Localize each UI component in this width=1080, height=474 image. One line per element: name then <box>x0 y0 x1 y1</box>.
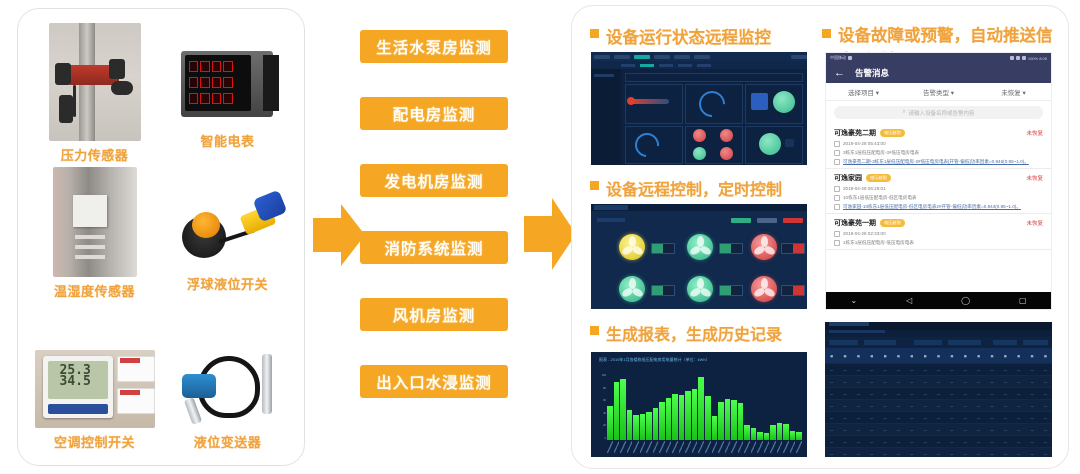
device-toggle-3[interactable] <box>781 243 805 254</box>
chart-y-tick: 100 <box>602 374 606 377</box>
dashboard-sidebar <box>591 69 621 165</box>
table-row[interactable]: ————————————————— <box>825 412 1052 424</box>
alarm-time: 2019-04-28 05:43:00 <box>843 141 886 147</box>
table-cell: — <box>1039 380 1052 384</box>
table-row[interactable]: ————————————————— <box>825 364 1052 376</box>
table-cell: — <box>865 452 878 456</box>
table-cell: — <box>905 428 918 432</box>
nav-item <box>594 55 610 59</box>
alarm-list-item[interactable]: 可逸豪苑二期 电压越限 未恢复 2019-04-28 05:43:00 3栋东1… <box>826 124 1051 169</box>
remote-control-dashboard-screenshot <box>591 204 807 309</box>
level-transmitter-photo <box>168 348 288 428</box>
phone-filter-bar: 选择项目 ▾ 告警类型 ▾ 未恢复 ▾ <box>826 83 1051 101</box>
table-cell: — <box>838 380 851 384</box>
chart-bar <box>607 406 613 440</box>
chart-bar <box>783 424 789 440</box>
dashboard-subnav <box>591 61 807 69</box>
table-topbar <box>825 322 1052 330</box>
phone-search-input[interactable]: ⌕ 请输入设备名称或告警内容 <box>834 106 1043 119</box>
table-cell: — <box>838 392 851 396</box>
arrow-right-icon <box>313 204 365 271</box>
table-cell: — <box>1012 416 1025 420</box>
sensor-panel: 压力传感器 智能电表 <box>17 8 305 466</box>
table-cell: — <box>905 416 918 420</box>
table-cell: — <box>932 392 945 396</box>
chart-bar <box>640 414 646 440</box>
legend-fault <box>783 218 803 223</box>
table-cell: — <box>932 440 945 444</box>
sensor-item-level-transmitter: 液位变送器 <box>161 311 294 455</box>
table-header-cell: ▦ <box>1012 354 1025 358</box>
carrier-label: 中国移动 <box>830 55 846 61</box>
sensor-label: 浮球液位开关 <box>187 274 268 293</box>
table-header-cell: ▦ <box>945 354 958 358</box>
filter-select[interactable] <box>864 340 896 345</box>
device-fan-1[interactable] <box>619 234 645 260</box>
chart-x-tick <box>679 441 685 453</box>
table-header-cell: ▦ <box>905 354 918 358</box>
device-toggle-4[interactable] <box>651 285 675 296</box>
chart-x-tick <box>712 441 718 453</box>
table-cell: — <box>878 404 891 408</box>
chart-x-tick <box>692 441 698 453</box>
table-header-cell: ▦ <box>892 354 905 358</box>
chart-y-tick: 60 <box>603 399 606 402</box>
alarm-type-badge: 电压越限 <box>866 174 891 182</box>
chart-bar <box>731 400 737 440</box>
device-fan-5[interactable] <box>687 276 713 302</box>
alarm-clock-icon <box>1022 56 1026 60</box>
table-cell: — <box>1025 416 1038 420</box>
alarm-type-badge: 电压越限 <box>880 129 905 137</box>
feature-heading-text: 生成报表，生成历史记录 <box>606 321 782 345</box>
chart-x-tick <box>718 441 724 453</box>
table-cell: — <box>919 428 932 432</box>
table-cell: — <box>959 440 972 444</box>
table-cell: — <box>985 392 998 396</box>
alarm-type-badge: 电压越限 <box>880 219 905 227</box>
table-header-cell: ▦ <box>959 354 972 358</box>
history-table-screenshot: ▦▦▦▦▦▦▦▦▦▦▦▦▦▦▦▦▦———————————————————————… <box>825 322 1052 457</box>
table-cell: — <box>825 368 838 372</box>
bullet-icon <box>590 29 599 38</box>
filter-alarm-type[interactable]: 告警类型 ▾ <box>901 87 976 97</box>
chart-x-tick <box>666 441 672 453</box>
table-cell: — <box>838 368 851 372</box>
device-toggle-1[interactable] <box>651 243 675 254</box>
table-cell: — <box>1039 452 1052 456</box>
scenario-button-1[interactable]: 生活水泵房监测 <box>360 30 508 63</box>
device-icon <box>834 195 840 201</box>
table-cell: — <box>972 404 985 408</box>
table-cell: — <box>999 404 1012 408</box>
sensor-item-pressure: 压力传感器 <box>28 23 161 167</box>
back-triangle-icon[interactable]: ◁ <box>906 296 912 305</box>
table-cell: — <box>1025 452 1038 456</box>
table-row[interactable]: ————————————————— <box>825 400 1052 412</box>
table-cell: — <box>959 380 972 384</box>
monitoring-dashboard-screenshot <box>591 52 807 165</box>
table-cell: — <box>838 440 851 444</box>
table-cell: — <box>985 404 998 408</box>
monitoring-scenarios-list: 生活水泵房监测 配电房监测 发电机房监测 消防系统监测 风机房监测 出入口水浸监… <box>360 30 520 450</box>
alarm-device: 3栋东1层低压配电房-3#低压电房电表 <box>843 150 919 156</box>
table-cell: — <box>878 368 891 372</box>
chart-x-tick <box>698 441 704 453</box>
sensor-item-meter: 智能电表 <box>161 23 294 167</box>
table-cell: — <box>945 428 958 432</box>
table-cell: — <box>865 368 878 372</box>
table-cell: — <box>959 368 972 372</box>
phone-page-title: 告警消息 <box>855 67 889 79</box>
chart-bar <box>620 379 626 440</box>
table-cell: — <box>905 380 918 384</box>
table-cell: — <box>825 380 838 384</box>
table-breadcrumb <box>825 330 1052 337</box>
scenario-button-2[interactable]: 配电房监测 <box>360 97 508 130</box>
table-cell: — <box>959 452 972 456</box>
nav-item-active <box>634 55 650 59</box>
table-header-cell: ▦ <box>825 354 838 358</box>
search-placeholder: 请输入设备名称或告警内容 <box>909 109 975 117</box>
dashboard-topnav <box>591 52 807 61</box>
device-toggle-6[interactable] <box>781 285 805 296</box>
table-cell: — <box>999 392 1012 396</box>
chart-bar <box>751 428 757 440</box>
table-cell: — <box>865 380 878 384</box>
scenario-button-3[interactable]: 发电机房监测 <box>360 164 508 197</box>
table-cell: — <box>838 416 851 420</box>
table-cell: — <box>1025 428 1038 432</box>
dashboard-content <box>621 69 807 165</box>
device-toggle-2[interactable] <box>719 243 743 254</box>
filter-project[interactable]: 选择项目 ▾ <box>826 87 901 97</box>
table-cell: — <box>1025 380 1038 384</box>
table-cell: — <box>999 416 1012 420</box>
chart-bar <box>790 431 796 440</box>
table-header-cell: ▦ <box>932 354 945 358</box>
clock-icon <box>834 186 840 192</box>
subnav-item-active <box>640 64 654 67</box>
table-cell: — <box>905 392 918 396</box>
query-button[interactable] <box>993 340 1018 345</box>
table-header-cell: ▦ <box>919 354 932 358</box>
table-cell: — <box>972 380 985 384</box>
table-cell: — <box>945 368 958 372</box>
table-cell: — <box>932 368 945 372</box>
table-cell: — <box>878 452 891 456</box>
pressure-sensor-photo <box>49 23 141 141</box>
bluetooth-icon <box>1016 56 1020 60</box>
sensor-label: 空调控制开关 <box>54 432 135 451</box>
filter-select-2[interactable] <box>948 340 980 345</box>
phone-nav-bar: ⌄ ◁ ◯ ▢ <box>826 292 1051 309</box>
table-cell: — <box>878 440 891 444</box>
table-header-cell: ▦ <box>972 354 985 358</box>
device-fan-6[interactable] <box>751 276 777 302</box>
alarm-detail: 可逸家园-10栋东1层低压配电房-低区电房电表2#开管-偏低]功率因素=0.94… <box>843 204 1021 210</box>
report-bar-chart-screenshot: 报表 - 2019年1月各楼栋低压配电房用电量统计（单位：kWh） 100806… <box>591 352 807 457</box>
feature-heading-monitor: 设备运行状态远程监控 <box>590 24 771 48</box>
table-cell: — <box>878 428 891 432</box>
table-cell: — <box>1025 440 1038 444</box>
nav-item <box>674 55 690 59</box>
table-cell: — <box>972 440 985 444</box>
alarm-list-item[interactable]: 可逸豪苑一期 电压越限 未恢复 2019-04-28 02:33:00 1栋东1… <box>826 214 1051 250</box>
table-cell: — <box>865 440 878 444</box>
device-icon <box>834 150 840 156</box>
chart-bar <box>712 416 718 440</box>
table-cell: — <box>919 392 932 396</box>
chart-bar <box>770 425 776 440</box>
table-cell: — <box>905 452 918 456</box>
alarm-status: 未恢复 <box>1026 129 1043 137</box>
table-cell: — <box>892 440 905 444</box>
chart-y-tick: 80 <box>603 387 606 390</box>
chart-x-tick <box>764 441 770 453</box>
mobile-app-screenshot: 中国移动 100% 8:05 ← 告警消息 选择项目 ▾ 告警类型 ▾ 未恢复 … <box>825 52 1052 310</box>
back-arrow-icon[interactable]: ← <box>834 68 845 79</box>
temp-humidity-sensor-photo <box>53 167 137 277</box>
table-cell: — <box>985 380 998 384</box>
chart-x-tick <box>633 441 639 453</box>
hide-keyboard-icon[interactable]: ⌄ <box>850 296 857 305</box>
nav-item <box>694 55 710 59</box>
chart-title: 报表 - 2019年1月各楼栋低压配电房用电量统计（单位：kWh） <box>599 357 710 363</box>
chart-x-tick <box>705 441 711 453</box>
table-cell: — <box>999 440 1012 444</box>
bullet-icon <box>822 29 831 38</box>
table-cell: — <box>825 392 838 396</box>
table-cell: — <box>985 368 998 372</box>
chart-x-tick <box>672 441 678 453</box>
scenario-button-6[interactable]: 出入口水浸监测 <box>360 365 508 398</box>
alarm-time: 2019-04-28 02:33:00 <box>843 231 886 237</box>
table-cell: — <box>1039 404 1052 408</box>
table-cell: — <box>959 404 972 408</box>
sensor-label: 压力传感器 <box>61 145 129 164</box>
table-cell: — <box>945 380 958 384</box>
chart-bar <box>692 389 698 440</box>
chart-x-tick <box>659 441 665 453</box>
table-cell: — <box>878 380 891 384</box>
nav-user <box>791 55 807 59</box>
infographic-root: 压力传感器 智能电表 <box>0 0 1080 474</box>
table-cell: — <box>852 380 865 384</box>
alarm-time: 2019-04-28 05:29:01 <box>843 186 886 192</box>
table-cell: — <box>892 452 905 456</box>
table-cell: — <box>865 428 878 432</box>
chart-bar <box>725 399 731 440</box>
table-cell: — <box>825 452 838 456</box>
table-cell: — <box>852 404 865 408</box>
chart-bar <box>738 403 744 440</box>
export-button[interactable] <box>1023 340 1048 345</box>
clock-icon <box>834 231 840 237</box>
scenario-button-5[interactable]: 风机房监测 <box>360 298 508 331</box>
table-cell: — <box>905 440 918 444</box>
scenario-button-4[interactable]: 消防系统监测 <box>360 231 508 264</box>
table-cell: — <box>932 380 945 384</box>
table-cell: — <box>972 392 985 396</box>
table-cell: — <box>985 452 998 456</box>
table-cell: — <box>945 452 958 456</box>
chart-x-tick <box>640 441 646 453</box>
chart-bar <box>633 415 639 440</box>
device-toggle-5[interactable] <box>719 285 743 296</box>
table-cell: — <box>999 368 1012 372</box>
table-cell: — <box>919 404 932 408</box>
table-cell: — <box>985 440 998 444</box>
phone-status-bar: 中国移动 100% 8:05 <box>826 53 1051 63</box>
table-header-cell: ▦ <box>865 354 878 358</box>
table-cell: — <box>972 368 985 372</box>
chart-bar <box>653 408 659 440</box>
table-cell: — <box>892 428 905 432</box>
alarm-detail: 可逸豪苑二期-3栋东1层低压配电房-2#低压电房电表[开管-偏低]功率因素=0.… <box>843 159 1029 165</box>
alarm-project: 可逸豪苑二期 <box>834 128 876 138</box>
table-cell: — <box>825 416 838 420</box>
chart-x-tick <box>620 441 626 453</box>
table-row[interactable]: ————————————————— <box>825 376 1052 388</box>
chart-bar <box>614 382 620 440</box>
clock-icon <box>834 141 840 147</box>
table-cell: — <box>1039 392 1052 396</box>
table-cell: — <box>905 368 918 372</box>
table-row[interactable]: ————————————————— <box>825 388 1052 400</box>
table-cell: — <box>825 440 838 444</box>
chart-bar <box>796 432 802 440</box>
table-header-cell: ▦ <box>1039 354 1052 358</box>
arrow-right-icon <box>524 198 576 275</box>
table-header-cell: ▦ <box>1025 354 1038 358</box>
alarm-project: 可逸豪苑一期 <box>834 218 876 228</box>
table-filter-bar <box>825 337 1052 348</box>
table-cell: — <box>1039 428 1052 432</box>
alarm-list-item[interactable]: 可逸家园 电压越限 未恢复 2019-04-28 05:29:01 10栋东1层… <box>826 169 1051 214</box>
chart-x-tick <box>731 441 737 453</box>
table-body: ▦▦▦▦▦▦▦▦▦▦▦▦▦▦▦▦▦———————————————————————… <box>825 348 1052 457</box>
chart-x-tick <box>790 441 796 453</box>
filter-status[interactable]: 未恢复 ▾ <box>976 87 1051 97</box>
nav-item <box>654 55 670 59</box>
table-cell: — <box>825 404 838 408</box>
sensor-label: 智能电表 <box>200 131 254 150</box>
chart-x-tick <box>744 441 750 453</box>
legend-running <box>731 218 751 223</box>
table-cell: — <box>945 416 958 420</box>
table-cell: — <box>1039 440 1052 444</box>
table-cell: — <box>1012 404 1025 408</box>
device-fan-3[interactable] <box>751 234 777 260</box>
chart-x-tick <box>796 441 802 453</box>
table-cell: — <box>959 428 972 432</box>
feature-heading-text: 设备远程控制，定时控制 <box>606 176 782 200</box>
table-cell: — <box>932 452 945 456</box>
table-cell: — <box>1012 428 1025 432</box>
chart-x-tick <box>646 441 652 453</box>
chart-x-tick <box>653 441 659 453</box>
recents-square-icon[interactable]: ▢ <box>1019 296 1027 305</box>
ac-control-switch-photo: 25.334.5 <box>35 350 155 428</box>
info-icon <box>834 159 840 165</box>
table-cell: — <box>865 392 878 396</box>
table-cell: — <box>892 380 905 384</box>
table-cell: — <box>838 452 851 456</box>
table-cell: — <box>1012 440 1025 444</box>
table-cell: — <box>852 440 865 444</box>
table-cell: — <box>892 392 905 396</box>
table-cell: — <box>919 440 932 444</box>
table-cell: — <box>972 452 985 456</box>
sensor-grid: 压力传感器 智能电表 <box>28 23 294 455</box>
device-icon <box>834 240 840 246</box>
filter-label <box>829 340 858 345</box>
chart-bar <box>659 402 665 440</box>
chart-x-tick <box>627 441 633 453</box>
table-cell: — <box>985 416 998 420</box>
smart-meter-photo <box>173 41 283 127</box>
subnav-item <box>659 64 673 67</box>
table-cell: — <box>972 416 985 420</box>
signal-icon <box>848 56 852 60</box>
chart-x-tick <box>770 441 776 453</box>
chart-x-tick <box>725 441 731 453</box>
feature-heading-text: 设备运行状态远程监控 <box>606 24 771 48</box>
table-cell: — <box>838 428 851 432</box>
chart-bar <box>698 377 704 440</box>
wifi-icon <box>1010 56 1014 60</box>
chart-y-tick: 0 <box>605 437 606 440</box>
chart-bar <box>685 391 691 440</box>
chart-x-tick <box>607 441 613 453</box>
table-cell: — <box>1012 452 1025 456</box>
table-header-cell: ▦ <box>985 354 998 358</box>
chart-x-tick <box>783 441 789 453</box>
table-cell: — <box>905 404 918 408</box>
table-cell: — <box>919 380 932 384</box>
table-cell: — <box>932 428 945 432</box>
subnav-item <box>678 64 692 67</box>
chart-bar <box>679 395 685 440</box>
device-fan-4[interactable] <box>619 276 645 302</box>
table-cell: — <box>865 404 878 408</box>
alarm-status: 未恢复 <box>1026 219 1043 227</box>
float-level-switch-photo <box>168 186 288 270</box>
table-cell: — <box>999 380 1012 384</box>
subnav-item <box>697 64 711 67</box>
table-cell: — <box>878 392 891 396</box>
feature-heading-reports: 生成报表，生成历史记录 <box>590 321 782 345</box>
device-fan-2[interactable] <box>687 234 713 260</box>
table-cell: — <box>1012 380 1025 384</box>
table-row[interactable]: ————————————————— <box>825 436 1052 448</box>
chart-x-tick <box>777 441 783 453</box>
chart-bar <box>764 433 770 440</box>
table-cell: — <box>959 392 972 396</box>
sensor-label: 温湿度传感器 <box>54 281 135 300</box>
chart-x-tick <box>614 441 620 453</box>
table-cell: — <box>945 404 958 408</box>
table-header-cell: ▦ <box>878 354 891 358</box>
table-row[interactable]: ————————————————— <box>825 448 1052 457</box>
sensor-item-ac-switch: 25.334.5 空调控制开关 <box>28 311 161 455</box>
home-circle-icon[interactable]: ◯ <box>961 296 970 305</box>
table-cell: — <box>1012 392 1025 396</box>
table-header-row: ▦▦▦▦▦▦▦▦▦▦▦▦▦▦▦▦▦ <box>825 348 1052 364</box>
table-cell: — <box>1025 392 1038 396</box>
table-row[interactable]: ————————————————— <box>825 424 1052 436</box>
